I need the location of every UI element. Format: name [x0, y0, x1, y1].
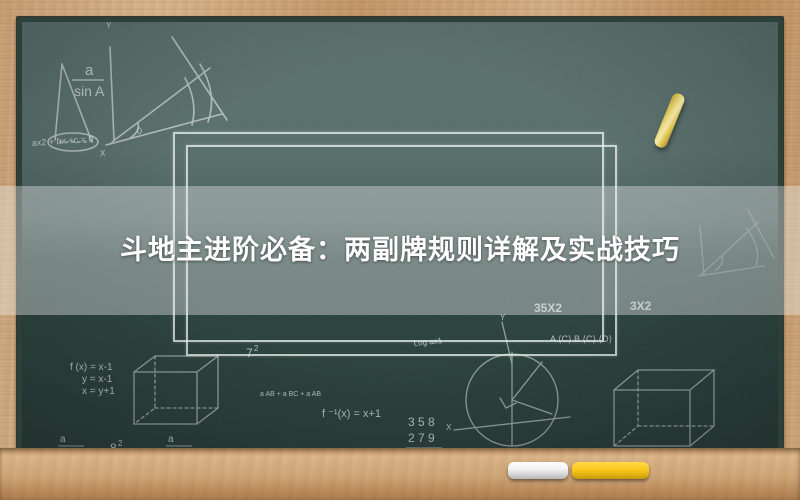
chalk-side-expression: a AB + a BC + a AB: [260, 391, 321, 398]
chalk-law-of-sines-denominator: sin A: [74, 83, 105, 99]
title-overlay-band: 斗地主进阶必备：两副牌规则详解及实战技巧: [0, 186, 800, 315]
chalk-axis-x-top-left: X: [100, 149, 106, 158]
chalk-angle-label: 0: [137, 126, 142, 136]
chalk-ratio-a-left: a: [60, 434, 66, 445]
chalk-inverse-function: f ⁻¹(x) = x+1: [322, 408, 381, 420]
white-chalk-icon: [508, 462, 568, 479]
chalk-sum-row-1: 3 5 8: [408, 415, 435, 429]
chalk-axis-y-top-left: Y: [106, 22, 112, 30]
chalk-fx-line1: f (x) = x-1: [70, 362, 113, 373]
yellow-chalk-tilted-icon: [653, 92, 686, 150]
chalk-fx-line3: x = y+1: [82, 386, 115, 397]
title-card-stage: Y X 0 a sin A ax2 + bx +c = 0: [0, 0, 800, 500]
chalk-ratio-a-mid: a: [168, 434, 174, 445]
yellow-chalk-icon: [572, 462, 649, 479]
page-title: 斗地主进阶必备：两副牌规则详解及实战技巧: [120, 234, 680, 266]
chalk-fx-line2: y = x-1: [82, 374, 113, 385]
chalk-sum-row-2: 2 7 9: [408, 431, 435, 445]
chalk-law-of-sines-numerator: a: [85, 62, 94, 79]
chalk-quadratic-equation: ax2 + bx +c = 0: [31, 134, 93, 148]
chalk-ledge: [0, 448, 800, 500]
chalk-eight-exponent: 2: [118, 439, 123, 448]
chalk-eight: 8: [110, 441, 117, 448]
chalk-axis-x-right: X: [446, 423, 452, 432]
